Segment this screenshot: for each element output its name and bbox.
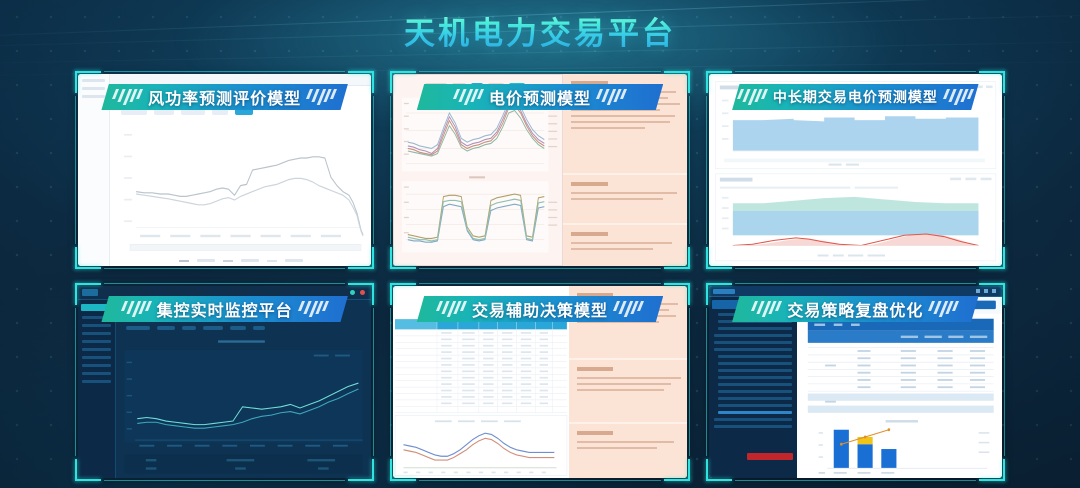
tree-item[interactable] bbox=[718, 362, 792, 365]
banner-slash-left bbox=[739, 89, 766, 105]
page-title: 天机电力交易平台 bbox=[404, 8, 676, 53]
card-wind-power-forecast-evaluation-model[interactable]: 风功率预测评价模型 bbox=[78, 74, 371, 266]
tree-item-selected[interactable] bbox=[718, 411, 792, 414]
note-heading bbox=[571, 182, 608, 186]
tree-item[interactable] bbox=[718, 397, 792, 400]
page-title-container: 天机电力交易平台 bbox=[0, 8, 1080, 53]
note-section bbox=[569, 358, 686, 421]
sidebar-item[interactable] bbox=[82, 95, 105, 98]
card-title: 集控实时监控平台 bbox=[157, 297, 293, 321]
tree-item[interactable] bbox=[718, 355, 792, 358]
banner-slash-left bbox=[114, 89, 141, 105]
sidebar-item[interactable] bbox=[82, 348, 111, 351]
card-title-banner: 风功率预测评价模型 bbox=[101, 84, 347, 110]
alarm-icon[interactable] bbox=[360, 290, 365, 295]
banner-slash-right bbox=[598, 89, 625, 105]
tree-item[interactable] bbox=[718, 390, 792, 393]
app-sidebar[interactable] bbox=[78, 300, 116, 478]
strategy-review-table-and-bars bbox=[797, 297, 1002, 478]
tree-item[interactable] bbox=[714, 425, 792, 428]
user-avatar[interactable] bbox=[350, 290, 355, 295]
tree-item[interactable] bbox=[714, 348, 792, 351]
card-title: 中长期交易电价预测模型 bbox=[773, 87, 938, 107]
banner-slash-right bbox=[930, 301, 957, 317]
banner-slash-right bbox=[615, 301, 642, 317]
app-logo bbox=[713, 289, 735, 294]
tree-item[interactable] bbox=[714, 341, 792, 344]
card-medium-long-term-price-forecast-model[interactable]: 中长期交易电价预测模型 bbox=[709, 74, 1002, 266]
note-heading bbox=[577, 431, 612, 435]
tree-sidebar[interactable] bbox=[709, 297, 797, 478]
card-title: 交易辅助决策模型 bbox=[472, 297, 608, 321]
note-section bbox=[569, 422, 686, 478]
sidebar-item[interactable] bbox=[82, 79, 105, 82]
card-title-banner: 中长期交易电价预测模型 bbox=[732, 84, 978, 110]
banner-slash-left bbox=[438, 301, 465, 317]
note-heading bbox=[577, 367, 612, 371]
chart-legend bbox=[110, 259, 371, 262]
sidebar-item[interactable] bbox=[82, 380, 111, 383]
card-title: 风功率预测评价模型 bbox=[148, 85, 301, 109]
sidebar-item[interactable] bbox=[82, 87, 105, 90]
tree-item[interactable] bbox=[714, 334, 792, 337]
tree-item[interactable] bbox=[718, 404, 792, 407]
sidebar-item[interactable] bbox=[82, 332, 111, 335]
card-title: 电价预测模型 bbox=[489, 85, 591, 109]
tree-item[interactable] bbox=[718, 369, 792, 372]
sidebar-item[interactable] bbox=[82, 324, 111, 327]
card-centralized-realtime-monitoring-platform[interactable]: 集控实时监控平台 bbox=[78, 286, 371, 478]
card-grid: 风功率预测评价模型 bbox=[78, 74, 1002, 478]
wind-power-line-chart bbox=[110, 86, 371, 266]
sidebar-alert-badge bbox=[747, 453, 793, 460]
tree-item[interactable] bbox=[714, 418, 792, 421]
tree-item[interactable] bbox=[718, 376, 792, 379]
card-title-banner: 交易辅助决策模型 bbox=[417, 296, 663, 322]
card-title: 交易策略复盘优化 bbox=[787, 297, 923, 321]
help-icon[interactable] bbox=[984, 289, 988, 293]
banner-slash-right bbox=[945, 89, 972, 105]
card-title-banner: 电价预测模型 bbox=[417, 84, 663, 110]
note-section bbox=[563, 173, 686, 223]
banner-slash-right bbox=[308, 89, 335, 105]
banner-slash-left bbox=[753, 301, 780, 317]
sidebar-item[interactable] bbox=[82, 364, 111, 367]
sidebar-item[interactable] bbox=[82, 356, 111, 359]
power-trend-line-chart bbox=[116, 300, 371, 478]
banner-slash-left bbox=[123, 301, 150, 317]
banner-slash-left bbox=[455, 89, 482, 105]
app-topbar bbox=[709, 286, 1002, 297]
sidebar-item[interactable] bbox=[82, 340, 111, 343]
app-logo bbox=[82, 289, 98, 296]
card-title-banner: 集控实时监控平台 bbox=[101, 296, 347, 322]
card-electricity-price-forecast-model[interactable]: 电价预测模型 bbox=[393, 74, 686, 266]
sidebar-item[interactable] bbox=[82, 372, 111, 375]
note-heading bbox=[571, 232, 608, 236]
card-trading-decision-support-model[interactable]: 交易辅助决策模型 bbox=[393, 286, 686, 478]
user-avatar[interactable] bbox=[976, 289, 980, 293]
banner-slash-right bbox=[300, 301, 327, 317]
note-section bbox=[563, 223, 686, 266]
settings-icon[interactable] bbox=[992, 289, 996, 293]
card-trading-strategy-review-optimization[interactable]: 交易策略复盘优化 bbox=[709, 286, 1002, 478]
tree-item[interactable] bbox=[718, 383, 792, 386]
tree-item[interactable] bbox=[718, 327, 792, 330]
card-title-banner: 交易策略复盘优化 bbox=[732, 296, 978, 322]
